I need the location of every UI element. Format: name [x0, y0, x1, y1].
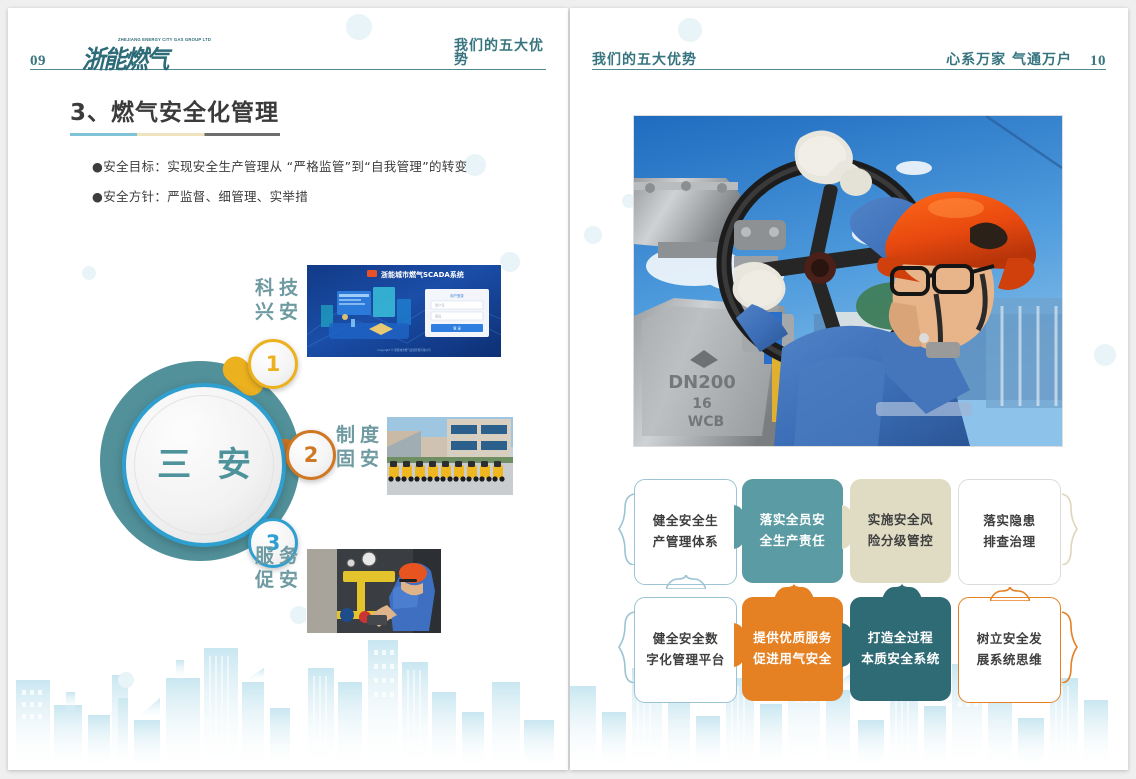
- right-header: 我们的五大优势 心系万家 气通万户 10: [592, 40, 1106, 70]
- pipe-inspection-photo: [306, 548, 442, 634]
- svg-text:Copyright © 浙能城市燃气运营管理有限公司: Copyright © 浙能城市燃气运营管理有限公司: [377, 348, 431, 352]
- logo-english-text: ZHEJIANG ENERGY CITY GAS GROUP LTD: [118, 37, 211, 42]
- node-1-number: 1: [266, 354, 281, 375]
- decor-bubble: [346, 14, 372, 40]
- flow-box-r1c1[interactable]: 健全安全生产管理体系: [634, 479, 737, 585]
- flow-box-r2c4[interactable]: 树立安全发展系统思维: [958, 597, 1061, 703]
- flow-box-r1c4-label: 落实隐患排查治理: [983, 511, 1035, 552]
- decor-bubble: [584, 226, 602, 244]
- flow-box-r2c2-label: 提供优质服务促进用气安全: [753, 628, 832, 669]
- svg-text:WCB: WCB: [688, 414, 724, 430]
- diagram-center-label: 三 安: [126, 448, 282, 482]
- safety-flow-chart: 健全安全生产管理体系 落实全员安全生产责任 实施安全风险分级管控 落实隐患排查治…: [634, 479, 1062, 699]
- right-bracket-row2: [1060, 611, 1078, 683]
- flow-box-r1c1-label: 健全安全生产管理体系: [653, 511, 719, 552]
- flow-box-r2c3-label: 打造全过程本质安全系统: [861, 628, 940, 669]
- flow-box-r2c1-label: 健全安全数字化管理平台: [646, 629, 725, 670]
- flow-box-r1c2-label: 落实全员安全生产责任: [760, 510, 826, 551]
- node-2-number: 2: [304, 445, 319, 466]
- diagram-node-2[interactable]: 2: [286, 430, 336, 480]
- scada-login-photo: 浙能城市燃气SCADA系统: [306, 264, 502, 358]
- company-logo: ZHEJIANG ENERGY CITY GAS GROUP LTD 浙能燃气: [82, 38, 177, 72]
- flow-box-r1c3[interactable]: 实施安全风险分级管控: [850, 479, 951, 583]
- flow-box-r2c3[interactable]: 打造全过程本质安全系统: [850, 597, 951, 701]
- header-rule: [592, 69, 1106, 71]
- flow-box-r2c4-label: 树立安全发展系统思维: [977, 629, 1043, 670]
- svg-text:16: 16: [692, 396, 711, 412]
- flow-box-r2c1[interactable]: 健全安全数字化管理平台: [634, 597, 737, 703]
- presentation-spread: 09 ZHEJIANG ENERGY CITY GAS GROUP LTD 浙能…: [0, 0, 1136, 779]
- right-bracket-row1: [1060, 493, 1078, 565]
- san-an-diagram: 三 安 1 2 3 科技兴安 制度固安 服务促安: [100, 266, 520, 618]
- flow-box-r2c2[interactable]: 提供优质服务促进用气安全: [742, 597, 843, 701]
- bullet-item-2: ●安全方针：严监督、细管理、实举措: [92, 188, 308, 207]
- svg-text:浙能城市燃气SCADA系统: 浙能城市燃气SCADA系统: [381, 270, 464, 279]
- page-title: 3、燃气安全化管理: [70, 100, 279, 126]
- decor-bubble: [82, 266, 96, 280]
- flow-box-r1c2[interactable]: 落实全员安全生产责任: [742, 479, 843, 583]
- left-header: 09 ZHEJIANG ENERGY CITY GAS GROUP LTD 浙能…: [30, 40, 546, 70]
- right-page: 我们的五大优势 心系万家 气通万户 10: [570, 8, 1128, 770]
- page-number-left: 09: [30, 54, 46, 69]
- svg-text:用户登录: 用户登录: [450, 293, 464, 298]
- diagram-label-3: 服务促安: [243, 544, 315, 593]
- decor-bubble: [1094, 344, 1116, 366]
- diagram-label-2: 制度固安: [336, 423, 384, 472]
- skyline-watermark: [8, 620, 568, 770]
- left-page: 09 ZHEJIANG ENERGY CITY GAS GROUP LTD 浙能…: [8, 8, 568, 770]
- title-underline: [70, 133, 280, 136]
- logo-chinese-text: 浙能燃气: [82, 47, 168, 72]
- page-number-right: 10: [1090, 54, 1106, 69]
- svg-text:用户名: 用户名: [435, 303, 445, 308]
- tagline: 心系万家 气通万户: [946, 53, 1072, 67]
- hero-photo: DN200 16 WCB: [633, 115, 1063, 447]
- svg-text:登 录: 登 录: [453, 326, 461, 331]
- decor-bubble: [678, 18, 702, 42]
- scooter-fleet-photo: [386, 416, 514, 496]
- header-title-left: 我们的五大优势: [454, 39, 546, 67]
- decor-bubble: [118, 672, 134, 688]
- svg-text:密码: 密码: [435, 314, 441, 319]
- flow-box-r1c4[interactable]: 落实隐患排查治理: [958, 479, 1061, 585]
- diagram-label-1: 科技兴安: [243, 276, 315, 325]
- header-title-right: 我们的五大优势: [592, 53, 697, 67]
- diagram-node-1[interactable]: 1: [248, 339, 298, 389]
- flow-box-r1c3-label: 实施安全风险分级管控: [868, 510, 934, 551]
- svg-text:DN200: DN200: [668, 372, 736, 393]
- bullet-item-1: ●安全目标：实现安全生产管理从 “严格监管”到“自我管理”的转变: [92, 158, 467, 177]
